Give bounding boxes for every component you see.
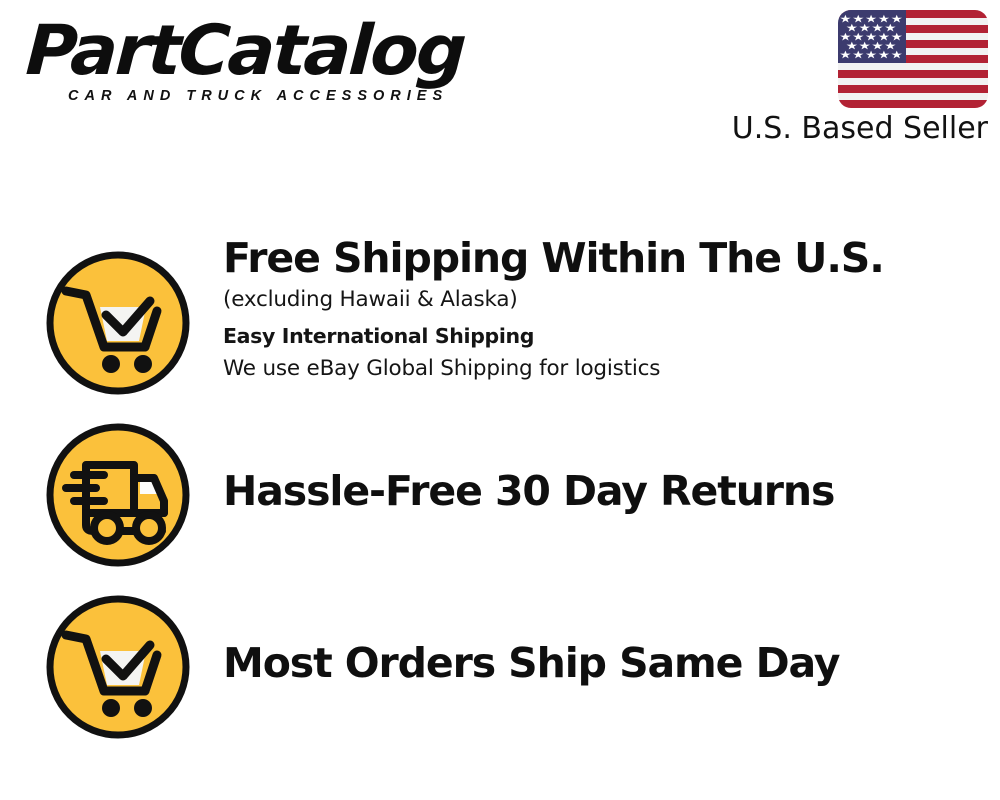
benefit-text-returns: Hassle-Free 30 Day Returns bbox=[223, 470, 983, 513]
flag-canton bbox=[838, 10, 906, 63]
benefit-subtitle: Easy International Shipping bbox=[223, 323, 983, 349]
us-flag-icon bbox=[838, 10, 988, 108]
shopping-cart-check-icon bbox=[44, 249, 192, 397]
brand-logo: PartCatalog CAR AND TRUCK ACCESSORIES bbox=[26, 18, 496, 104]
benefits-list: Free Shipping Within The U.S. (excluding… bbox=[0, 213, 1000, 729]
benefit-row-free-shipping: Free Shipping Within The U.S. (excluding… bbox=[0, 213, 1000, 385]
benefit-title: Hassle-Free 30 Day Returns bbox=[223, 470, 983, 513]
brand-wordmark: PartCatalog bbox=[24, 18, 507, 86]
benefit-text-same-day-ship: Most Orders Ship Same Day bbox=[223, 642, 983, 685]
benefit-text-free-shipping: Free Shipping Within The U.S. (excluding… bbox=[223, 237, 983, 383]
benefit-subnote: We use eBay Global Shipping for logistic… bbox=[223, 355, 983, 383]
shopping-cart-check-icon bbox=[44, 593, 192, 741]
delivery-truck-icon bbox=[44, 421, 192, 569]
us-based-seller-label: U.S. Based Seller bbox=[708, 112, 988, 145]
benefit-note: (excluding Hawaii & Alaska) bbox=[223, 286, 983, 314]
benefit-row-same-day-ship: Most Orders Ship Same Day bbox=[0, 557, 1000, 729]
us-based-seller-badge: U.S. Based Seller bbox=[708, 10, 988, 145]
benefit-row-returns: Hassle-Free 30 Day Returns bbox=[0, 385, 1000, 557]
benefit-title: Most Orders Ship Same Day bbox=[223, 642, 983, 685]
shipping-info-banner: PartCatalog CAR AND TRUCK ACCESSORIES bbox=[0, 0, 1000, 800]
benefit-title: Free Shipping Within The U.S. bbox=[223, 237, 983, 280]
